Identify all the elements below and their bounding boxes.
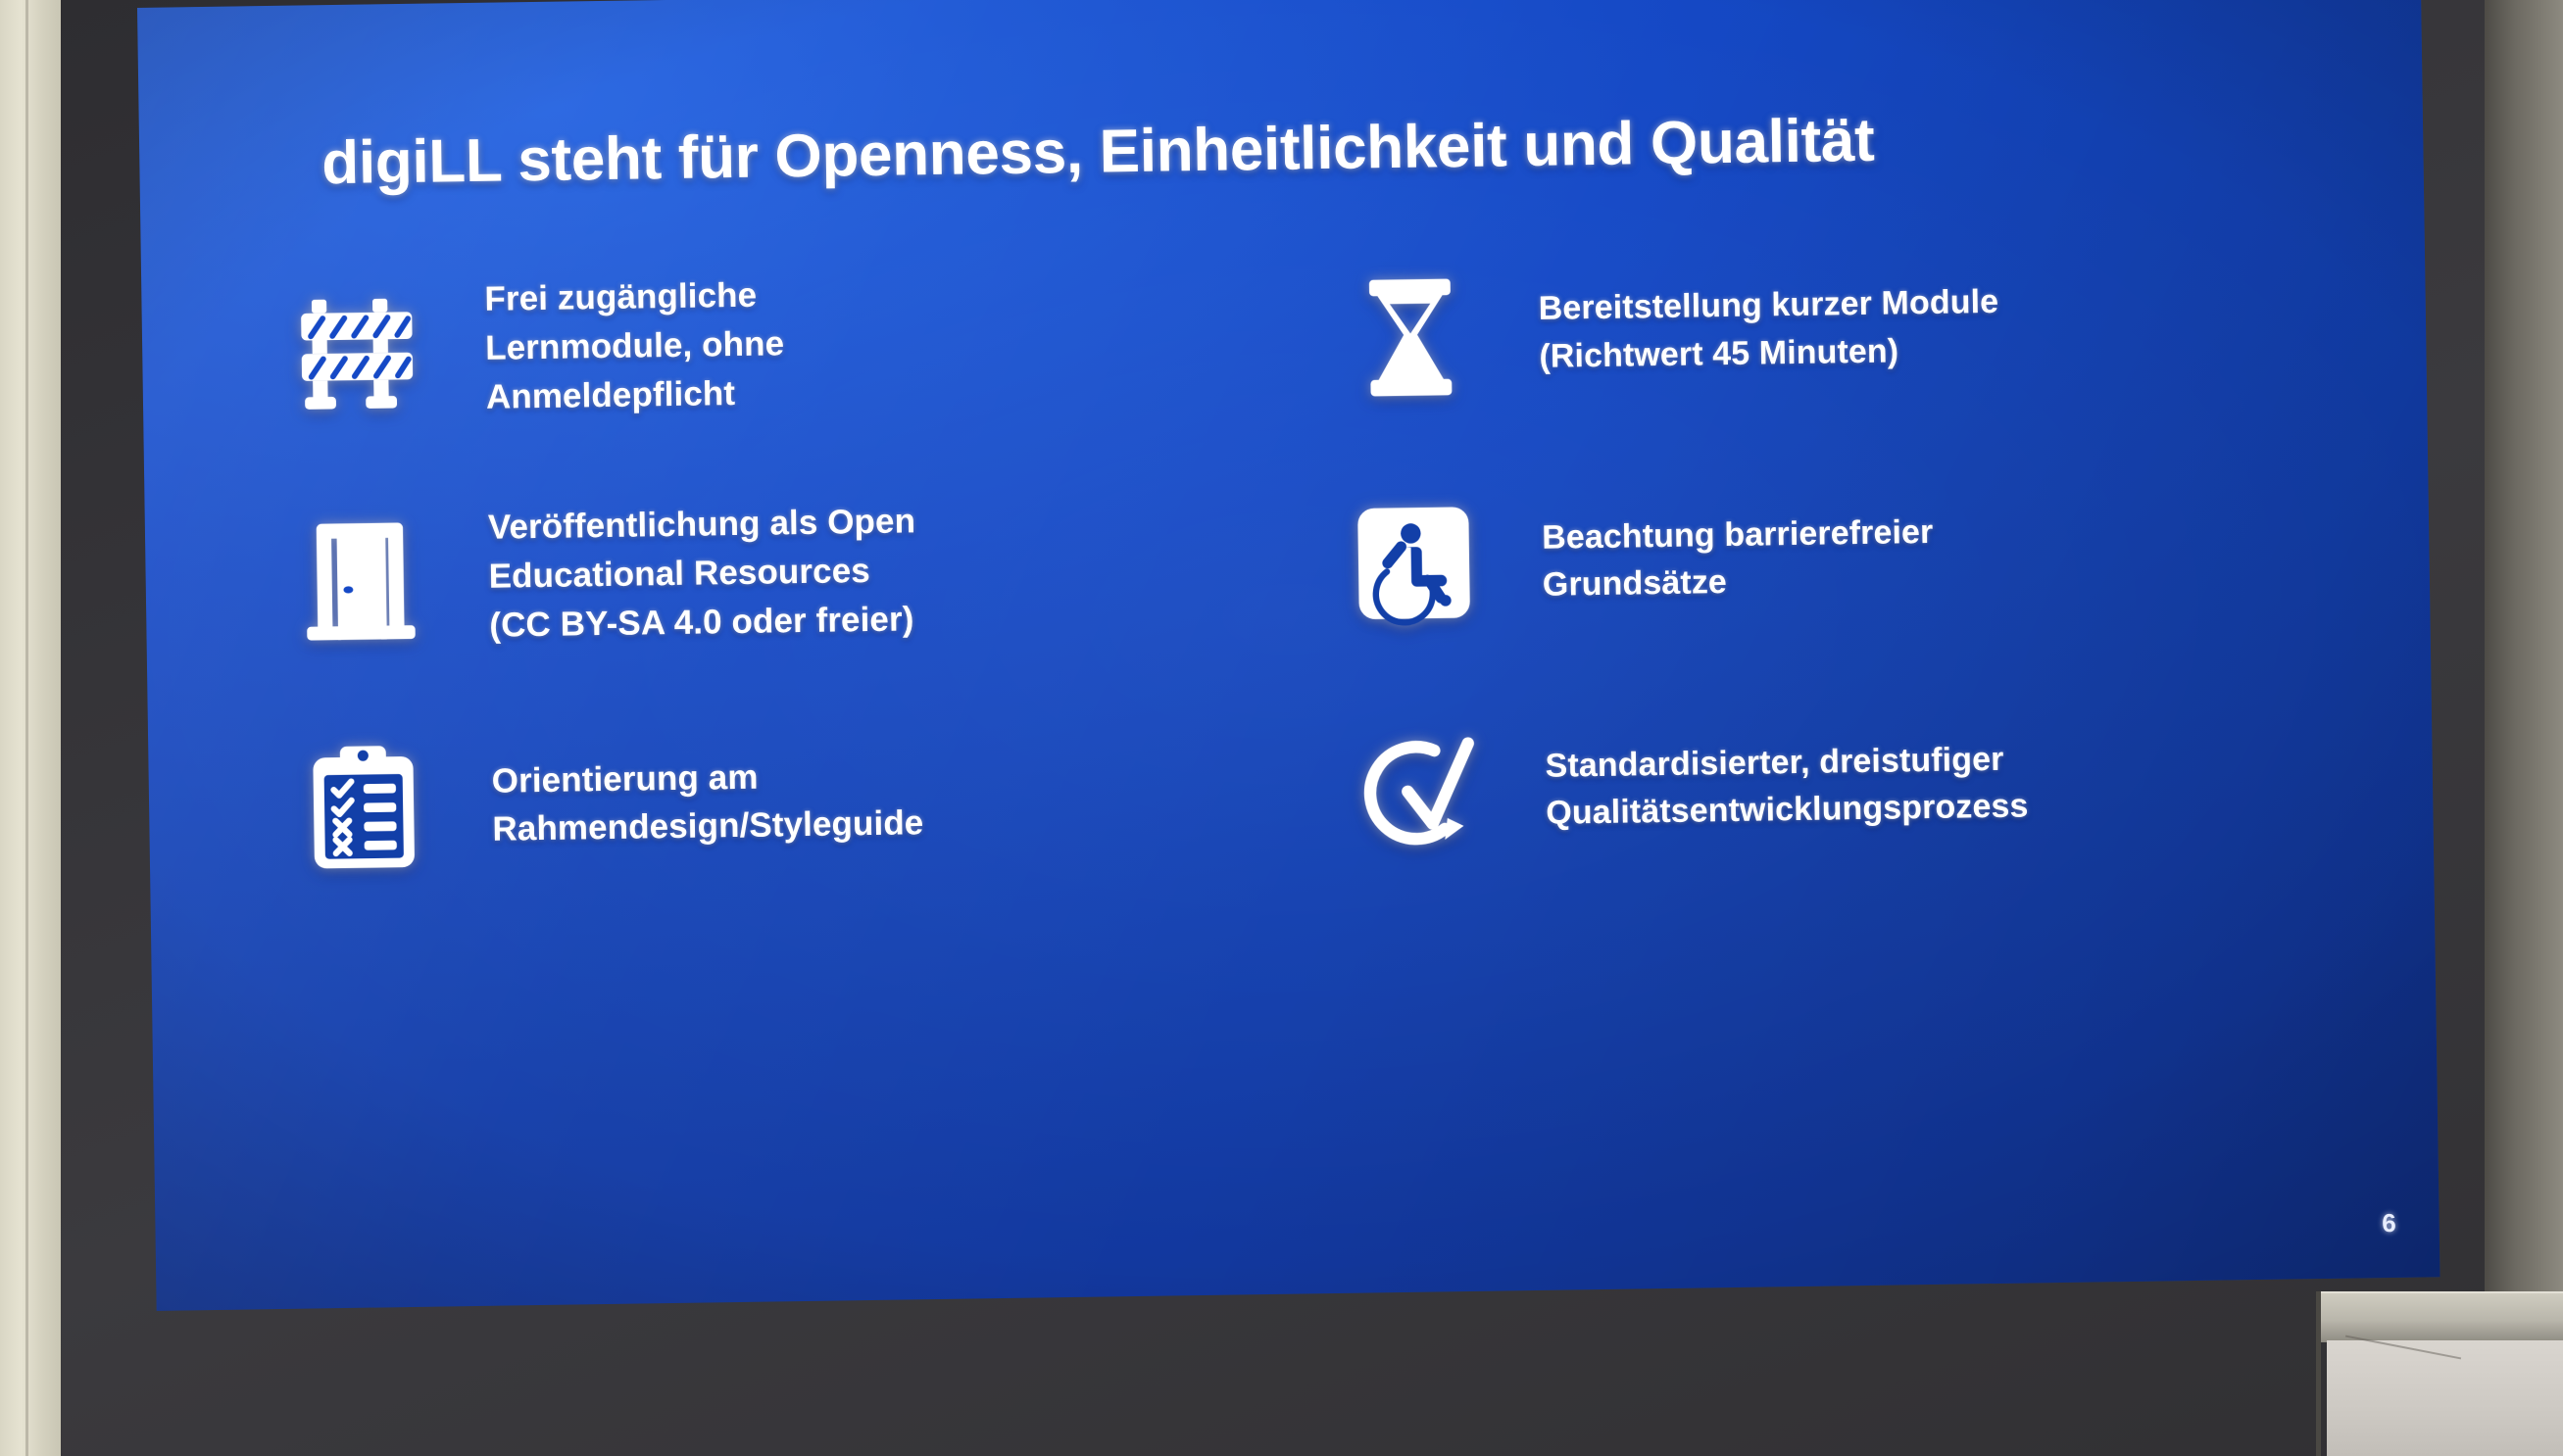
slide-number: 6 <box>2382 1208 2396 1238</box>
feature-grid: Frei zugängliche Lernmodule, ohne Anmeld… <box>287 207 2336 923</box>
feature-line-2: Qualitätsentwicklungsprozess <box>1546 783 2029 838</box>
feature-line-2: Rahmendesign/Styleguide <box>492 800 924 854</box>
photographed-presentation-scene: digiLL steht für Openness, Einheitlichke… <box>0 0 2563 1456</box>
flipchart-edge <box>2316 1291 2321 1456</box>
feature-line-2: Lernmodule, ohne <box>485 319 785 372</box>
feature-line-1: Bereitstellung kurzer Module <box>1538 278 1998 332</box>
flipchart-rail <box>2321 1291 2563 1342</box>
presentation-slide: digiLL steht für Openness, Einheitlichke… <box>137 0 2440 1311</box>
feature-line-2: Grundsätze <box>1543 556 1935 608</box>
slide-content: digiLL steht für Openness, Einheitlichke… <box>137 0 2440 1311</box>
cycle-check-icon <box>1349 723 1486 860</box>
feature-line-1: Standardisierter, dreistufiger <box>1545 736 2028 791</box>
feature-item-short-modules: Bereitstellung kurzer Module (Richtwert … <box>1341 207 2329 450</box>
feature-item-accessibility: Beachtung barrierefreier Grundsätze <box>1345 435 2333 678</box>
room-wall-left <box>0 0 61 1456</box>
feature-text-quality-process: Standardisierter, dreistufiger Qualitäts… <box>1545 736 2029 838</box>
flipchart-board <box>2321 1291 2563 1456</box>
wheelchair-accessibility-icon <box>1346 495 1483 632</box>
feature-line-2: (Richtwert 45 Minuten) <box>1539 326 1999 380</box>
feature-text-styleguide: Orientierung am Rahmendesign/Styleguide <box>491 751 923 854</box>
projection-screen-bezel: digiLL steht für Openness, Einheitlichke… <box>61 0 2485 1456</box>
hourglass-icon <box>1342 266 1479 403</box>
feature-text-short-modules: Bereitstellung kurzer Module (Richtwert … <box>1538 278 1999 379</box>
feature-line-1: Orientierung am <box>491 751 923 805</box>
open-door-icon <box>292 510 429 648</box>
feature-line-3: (CC BY-SA 4.0 oder freier) <box>489 595 917 650</box>
slide-title: digiLL steht für Openness, Einheitlichke… <box>321 101 2292 197</box>
barrier-icon <box>288 281 425 418</box>
feature-item-oer-license: Veröffentlichung als Open Educational Re… <box>291 451 1279 694</box>
feature-line-1: Beachtung barrierefreier <box>1542 509 1934 561</box>
feature-line-1: Veröffentlichung als Open <box>488 498 916 553</box>
feature-line-1: Frei zugängliche <box>484 270 784 323</box>
room-wall-right <box>2485 0 2563 1456</box>
feature-line-3: Anmeldepflicht <box>486 368 786 421</box>
projected-slide-area: digiLL steht für Openness, Einheitlichke… <box>137 0 2440 1311</box>
feature-item-styleguide: Orientierung am Rahmendesign/Styleguide <box>294 679 1282 922</box>
feature-item-quality-process: Standardisierter, dreistufiger Qualitäts… <box>1348 663 2336 906</box>
feature-item-open-access: Frei zugängliche Lernmodule, ohne Anmeld… <box>287 222 1275 465</box>
clipboard-checklist-icon <box>295 739 432 876</box>
feature-line-2: Educational Resources <box>488 546 916 601</box>
feature-text-accessibility: Beachtung barrierefreier Grundsätze <box>1542 509 1935 608</box>
feature-text-open-access: Frei zugängliche Lernmodule, ohne Anmeld… <box>484 270 785 421</box>
flipchart-paper <box>2327 1340 2563 1456</box>
feature-text-oer-license: Veröffentlichung als Open Educational Re… <box>488 498 917 651</box>
